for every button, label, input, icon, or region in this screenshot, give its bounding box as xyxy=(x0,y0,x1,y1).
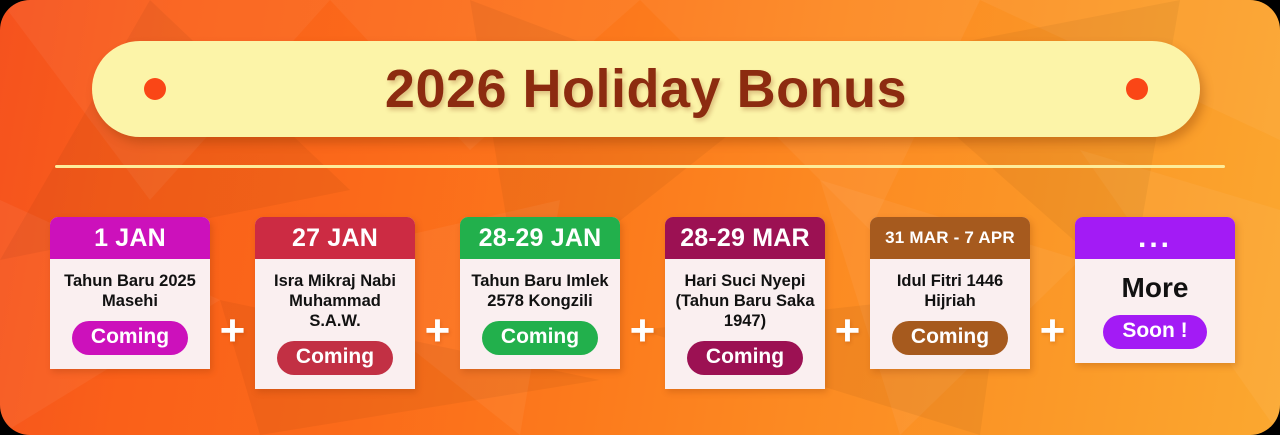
holiday-card-more[interactable]: ... More Soon ! xyxy=(1075,217,1235,363)
card-holiday-name: Isra Mikraj Nabi Muhammad S.A.W. xyxy=(262,271,408,331)
card-date-header: 1 JAN xyxy=(50,217,210,259)
status-badge[interactable]: Coming xyxy=(892,321,1008,355)
card-body: Isra Mikraj Nabi Muhammad S.A.W. xyxy=(255,259,415,331)
card-body: Hari Suci Nyepi (Tahun Baru Saka 1947) xyxy=(665,259,825,331)
card-holiday-name: Idul Fitri 1446 Hijriah xyxy=(877,271,1023,311)
horizontal-divider xyxy=(55,165,1225,168)
card-date-header: 28-29 JAN xyxy=(460,217,620,259)
dot-icon-left xyxy=(144,78,166,100)
card-body: Idul Fitri 1446 Hijriah xyxy=(870,259,1030,311)
holiday-card-row: 1 JAN Tahun Baru 2025 Masehi Coming + 27… xyxy=(50,217,1230,417)
card-body: More xyxy=(1075,259,1235,305)
card-date-header: 28-29 MAR xyxy=(665,217,825,259)
holiday-card[interactable]: 1 JAN Tahun Baru 2025 Masehi Coming xyxy=(50,217,210,369)
card-holiday-name: Tahun Baru Imlek 2578 Kongzili xyxy=(467,271,613,311)
card-body: Tahun Baru Imlek 2578 Kongzili xyxy=(460,259,620,311)
card-date-header: 31 MAR - 7 APR xyxy=(870,217,1030,259)
plus-separator-icon: + xyxy=(620,314,665,348)
plus-separator-icon: + xyxy=(825,314,870,348)
card-badge-wrap: Coming xyxy=(255,331,415,389)
plus-separator-icon: + xyxy=(210,314,255,348)
card-holiday-name: Hari Suci Nyepi (Tahun Baru Saka 1947) xyxy=(672,271,818,331)
status-badge[interactable]: Coming xyxy=(482,321,598,355)
card-body: Tahun Baru 2025 Masehi xyxy=(50,259,210,311)
status-badge[interactable]: Soon ! xyxy=(1103,315,1206,349)
status-badge[interactable]: Coming xyxy=(687,341,803,375)
card-badge-wrap: Coming xyxy=(460,311,620,369)
plus-separator-icon: + xyxy=(1030,314,1075,348)
holiday-card[interactable]: 31 MAR - 7 APR Idul Fitri 1446 Hijriah C… xyxy=(870,217,1030,369)
card-badge-wrap: Coming xyxy=(50,311,210,369)
holiday-card[interactable]: 27 JAN Isra Mikraj Nabi Muhammad S.A.W. … xyxy=(255,217,415,389)
dot-icon-right xyxy=(1126,78,1148,100)
card-date-header-ellipsis: ... xyxy=(1075,217,1235,259)
status-badge[interactable]: Coming xyxy=(277,341,393,375)
page-title: 2026 Holiday Bonus xyxy=(385,58,907,120)
card-holiday-name: Tahun Baru 2025 Masehi xyxy=(57,271,203,311)
card-date-header: 27 JAN xyxy=(255,217,415,259)
plus-separator-icon: + xyxy=(415,314,460,348)
holiday-card[interactable]: 28-29 JAN Tahun Baru Imlek 2578 Kongzili… xyxy=(460,217,620,369)
holiday-bonus-banner: 2026 Holiday Bonus 1 JAN Tahun Baru 2025… xyxy=(0,0,1280,435)
card-badge-wrap: Soon ! xyxy=(1075,305,1235,363)
card-badge-wrap: Coming xyxy=(870,311,1030,369)
card-badge-wrap: Coming xyxy=(665,331,825,389)
holiday-card[interactable]: 28-29 MAR Hari Suci Nyepi (Tahun Baru Sa… xyxy=(665,217,825,389)
title-banner: 2026 Holiday Bonus xyxy=(92,41,1200,137)
card-holiday-name: More xyxy=(1122,271,1189,305)
status-badge[interactable]: Coming xyxy=(72,321,188,355)
